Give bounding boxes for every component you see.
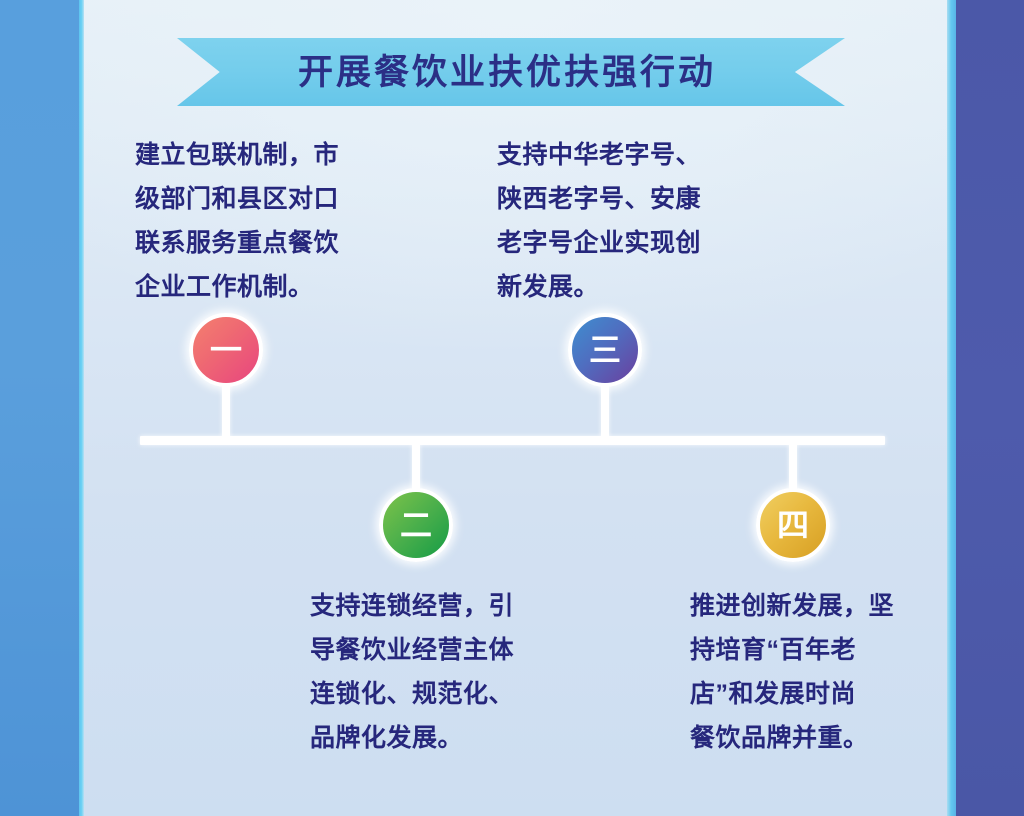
timeline-item-1-text: 建立包联机制，市 级部门和县区对口 联系服务重点餐饮 企业工作机制。 (135, 133, 385, 309)
timeline-node-2: 二 (379, 488, 453, 562)
title-ribbon: 开展餐饮业扶优扶强行动 (177, 38, 845, 106)
timeline-item-4-text: 推进创新发展，坚 持培育“百年老 店”和发展时尚 餐饮品牌并重。 (690, 584, 940, 760)
timeline-node-3: 三 (568, 313, 642, 387)
timeline-item-2-text: 支持连锁经营，引 导餐饮业经营主体 连锁化、规范化、 品牌化发展。 (310, 584, 560, 760)
infographic-poster: 开展餐饮业扶优扶强行动 建立包联机制，市 级部门和县区对口 联系服务重点餐饮 企… (0, 0, 1024, 816)
right-decorative-band (956, 0, 1024, 816)
timeline-node-4: 四 (756, 488, 830, 562)
timeline-connector-3 (601, 378, 609, 440)
timeline-node-1: 一 (189, 313, 263, 387)
left-decorative-band (0, 0, 79, 816)
timeline-node-2-label: 二 (400, 509, 432, 541)
timeline-item-3-text: 支持中华老字号、 陕西老字号、安康 老字号企业实现创 新发展。 (497, 133, 737, 309)
timeline-connector-1 (222, 378, 230, 440)
poster-content-area: 开展餐饮业扶优扶强行动 建立包联机制，市 级部门和县区对口 联系服务重点餐饮 企… (84, 0, 947, 816)
timeline-node-1-label: 一 (210, 334, 242, 366)
page-title: 开展餐饮业扶优扶强行动 (298, 55, 716, 90)
timeline-node-3-label: 三 (589, 334, 621, 366)
timeline-node-4-label: 四 (777, 509, 809, 541)
right-accent-stripe (947, 0, 956, 816)
timeline-axis (140, 436, 885, 445)
